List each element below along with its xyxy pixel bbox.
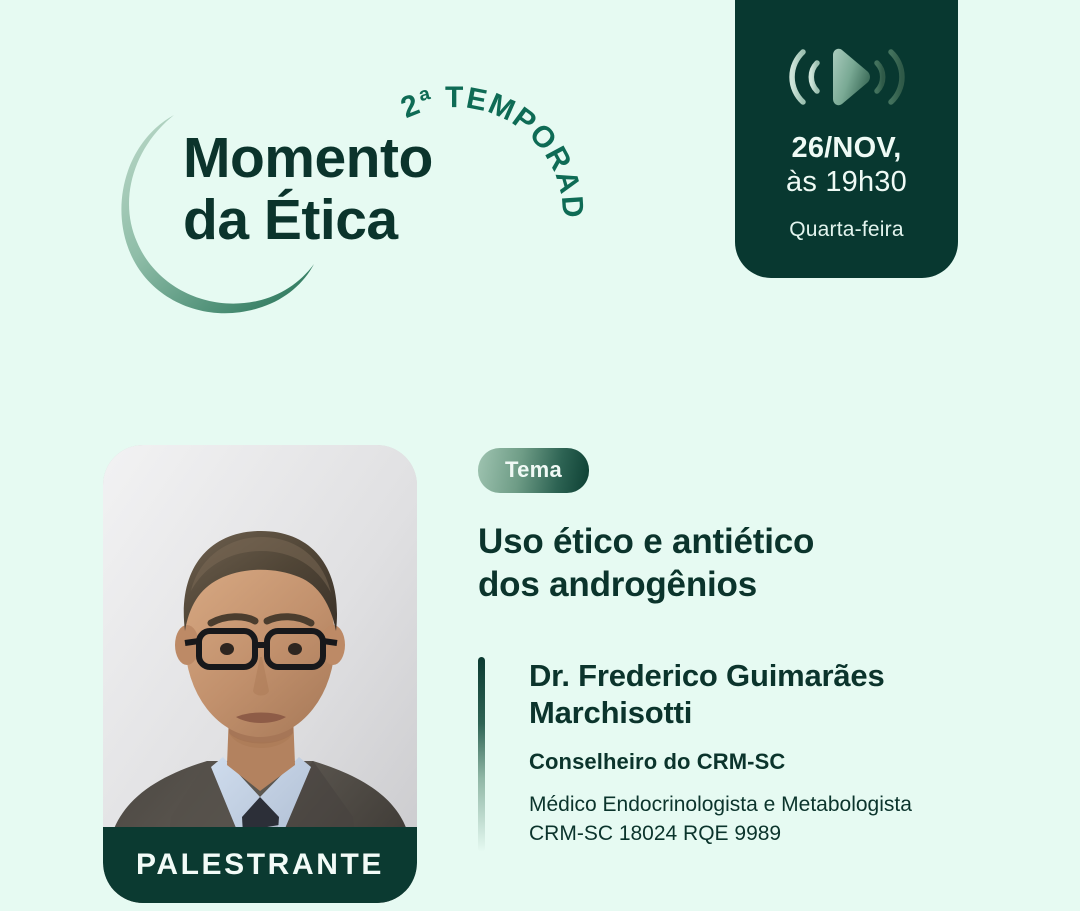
tema-badge: Tema: [478, 448, 589, 493]
speaker-name: Dr. Frederico Guimarães Marchisotti: [529, 657, 912, 731]
speaker-photo-frame: PALESTRANTE: [103, 445, 417, 903]
event-time: às 19h30: [786, 166, 907, 200]
event-datetime: 26/NOV, às 19h30: [786, 132, 907, 199]
speaker-text-group: Dr. Frederico Guimarães Marchisotti Cons…: [529, 657, 912, 852]
speaker-role: Conselheiro do CRM-SC: [529, 749, 912, 775]
speaker-credentials: Médico Endocrinologista e Metabologista …: [529, 791, 912, 848]
speaker-info-section: Dr. Frederico Guimarães Marchisotti Cons…: [478, 657, 1058, 852]
palestrante-label: PALESTRANTE: [136, 848, 384, 882]
page-title: Momento da Ética: [183, 128, 433, 251]
event-date: 26/NOV,: [786, 132, 907, 166]
event-date-card: 26/NOV, às 19h30 Quarta-feira: [735, 0, 958, 278]
speaker-accent-rule: [478, 657, 485, 852]
topic-title: Uso ético e antiético dos androgênios: [478, 520, 1038, 607]
brand-logo-block: Momento da Ética 2ª TEMPORADA: [110, 35, 630, 325]
palestrante-badge: PALESTRANTE: [103, 827, 417, 903]
audio-play-icon: [781, 38, 913, 116]
event-weekday: Quarta-feira: [789, 218, 903, 242]
poster-canvas: Momento da Ética 2ª TEMPORADA: [0, 0, 1080, 911]
topic-section: Tema Uso ético e antiético dos androgêni…: [478, 448, 1038, 607]
